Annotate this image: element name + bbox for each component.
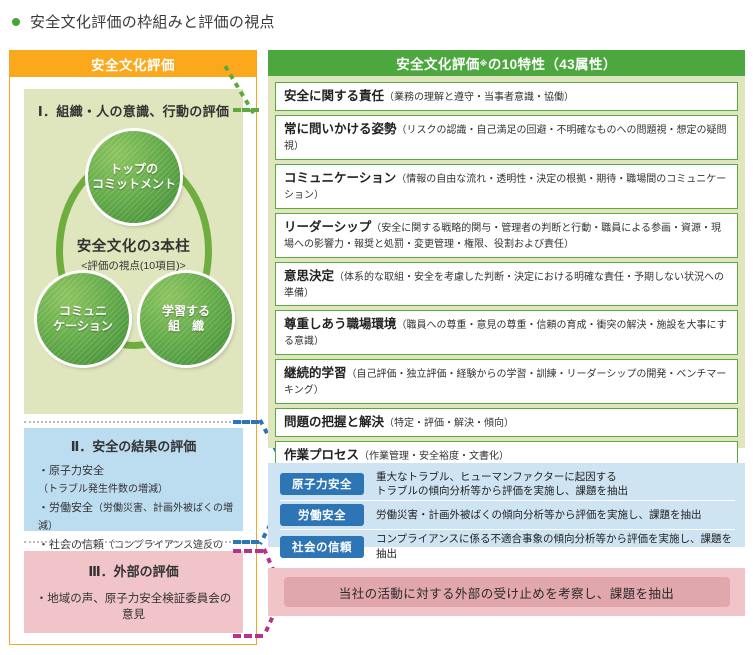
divider-dotted-1	[24, 421, 243, 423]
attribute-row[interactable]: コミュニケーション（情報の自由な流れ・透明性・決定の根拠・期待・職場間のコミュニ…	[275, 164, 738, 209]
section-external-evaluation: Ⅲ．外部の評価 ・地域の声、原子力安全検証委員会の意見	[24, 551, 243, 633]
three-pillars-diagram: トップのコミットメント コミュニケーション 学習する組 織 安全文化の3本柱 <…	[34, 131, 233, 401]
pink-panel-text: 当社の活動に対する外部の受け止めを考察し、課題を抽出	[284, 577, 730, 607]
list-item: ・地域の声、原子力安全検証委員会の意見	[34, 590, 233, 622]
attr-6-detail: （自己評価・独立評価・経験からの学習・訓練・リーダーシップの開発・ベンチマーキン…	[284, 369, 726, 396]
left-panel: 安全文化評価 Ⅰ．組織・人の意識、行動の評価 トップのコミットメント コミュニケ…	[9, 50, 257, 645]
attr-5-name: 尊重しあう職場環境	[284, 317, 397, 331]
pillars-center-sub: <評価の視点(10項目)>	[34, 258, 233, 273]
pillar-right-label: 学習する組 織	[162, 304, 210, 334]
attr-4-detail: （体系的な取組・安全を考慮した判断・決定における明確な責任・予期しない状況への準…	[284, 272, 724, 299]
page-title-text: 安全文化評価の枠組みと評価の視点	[30, 11, 275, 32]
attribute-row[interactable]: 安全に関する責任（業務の理解と遵守・当事者意識・協働）	[275, 82, 738, 111]
section-organization-evaluation: Ⅰ．組織・人の意識、行動の評価 トップのコミットメント コミュニケーション 学習…	[24, 89, 243, 414]
connector-magenta-horizontal-top	[233, 549, 263, 553]
badge-social-trust: 社会の信頼	[280, 536, 364, 558]
attr-6-name: 継続的学習	[284, 366, 347, 380]
green-header-mark: ※	[480, 59, 488, 68]
list-item: ・労働安全（労働災害、計画外被ばくの増減）	[34, 499, 233, 536]
s2-item0-detail: （トラブル発生件数の増減）	[38, 484, 168, 495]
section3-list: ・地域の声、原子力安全検証委員会の意見	[34, 590, 233, 622]
blue-row[interactable]: 社会の信頼 コンプライアンスに係る不適合事象の傾向分析等から評価を実施し、課題を…	[280, 530, 735, 562]
green-panel-header: 安全文化評価※の10特性（43属性）	[268, 50, 745, 76]
pillar-left-label: コミュニケーション	[53, 304, 113, 334]
blue-row[interactable]: 労働安全 労働災害・計画外被ばくの傾向分析等から評価を実施し、課題を抽出	[280, 501, 735, 530]
attr-8-name: 作業プロセス	[284, 448, 359, 462]
safety-culture-attributes-panel: 安全文化評価※の10特性（43属性） 安全に関する責任（業務の理解と遵守・当事者…	[268, 50, 745, 448]
blue-row-0-desc: 重大なトラブル、ヒューマンファクターに起因するトラブルの傾向分析等から評価を実施…	[364, 470, 735, 498]
attr-3-name: リーダーシップ	[284, 220, 371, 234]
page-title: 安全文化評価の枠組みと評価の視点	[12, 11, 275, 32]
attr-1-name: 常に問いかける姿勢	[284, 122, 397, 136]
blue-row-2-desc: コンプライアンスに係る不適合事象の傾向分析等から評価を実施し、課題を抽出	[364, 532, 735, 560]
attribute-row[interactable]: 意思決定（体系的な取組・安全を考慮した判断・決定における明確な責任・予期しない状…	[275, 262, 738, 307]
connector-blue-horizontal-top	[233, 420, 259, 424]
section3-title: Ⅲ．外部の評価	[34, 561, 233, 580]
blue-row-1-desc: 労働災害・計画外被ばくの傾向分析等から評価を実施し、課題を抽出	[364, 508, 735, 522]
external-evaluation-detail-panel: 当社の活動に対する外部の受け止めを考察し、課題を抽出	[268, 568, 745, 616]
pillar-top-label: トップのコミットメント	[92, 162, 176, 192]
blue-row[interactable]: 原子力安全 重大なトラブル、ヒューマンファクターに起因するトラブルの傾向分析等か…	[280, 468, 735, 501]
s2-item0-name: ・原子力安全	[38, 465, 104, 477]
divider-dotted-2	[24, 541, 243, 543]
section2-title: Ⅱ．安全の結果の評価	[34, 436, 233, 455]
pillar-learning-organization: 学習する組 織	[140, 273, 232, 365]
attribute-row[interactable]: 継続的学習（自己評価・独立評価・経験からの学習・訓練・リーダーシップの開発・ベン…	[275, 359, 738, 404]
attr-8-detail: （作業管理・安全裕度・文書化）	[359, 451, 509, 462]
pillars-center-main: 安全文化の3本柱	[34, 235, 233, 256]
attribute-row[interactable]: 尊重しあう職場環境（職員への尊重・意見の尊重・信頼の育成・衝突の解決・施設を大事…	[275, 310, 738, 355]
badge-occupational-safety: 労働安全	[280, 504, 364, 526]
attribute-row[interactable]: リーダーシップ（安全に関する戦略的関与・管理者の判断と行動・職員による参画・資源…	[275, 213, 738, 258]
connector-blue-horizontal-bottom	[233, 540, 259, 544]
attr-7-detail: （特定・評価・解決・傾向）	[384, 418, 514, 429]
list-item: ・原子力安全（トラブル発生件数の増減）	[34, 462, 233, 499]
pillar-communication: コミュニケーション	[37, 273, 129, 365]
section-safety-results-evaluation: Ⅱ．安全の結果の評価 ・原子力安全（トラブル発生件数の増減） ・労働安全（労働災…	[24, 428, 243, 531]
attribute-row[interactable]: 問題の把握と解決（特定・評価・解決・傾向）	[275, 408, 738, 437]
attributes-list: 安全に関する責任（業務の理解と遵守・当事者意識・協働） 常に問いかける姿勢（リス…	[268, 76, 745, 503]
pillars-center-caption: 安全文化の3本柱 <評価の視点(10項目)>	[34, 235, 233, 273]
attr-0-name: 安全に関する責任	[284, 89, 384, 103]
badge-nuclear-safety: 原子力安全	[280, 473, 364, 495]
pillar-top-commitment: トップのコミットメント	[88, 131, 180, 223]
attribute-row[interactable]: 常に問いかける姿勢（リスクの認識・自己満足の回避・不明確なものへの問題視・想定の…	[275, 115, 738, 160]
green-header-post: の10特性（43属性）	[488, 53, 617, 73]
attr-4-name: 意思決定	[284, 269, 334, 283]
s2-item1-name: ・労働安全	[38, 502, 93, 514]
connector-magenta-horizontal-bottom	[233, 634, 263, 638]
attr-7-name: 問題の把握と解決	[284, 415, 384, 429]
left-panel-header: 安全文化評価	[10, 51, 256, 77]
section1-title: Ⅰ．組織・人の意識、行動の評価	[24, 101, 243, 120]
safety-results-detail-panel: 原子力安全 重大なトラブル、ヒューマンファクターに起因するトラブルの傾向分析等か…	[268, 463, 745, 547]
green-header-pre: 安全文化評価	[396, 53, 479, 73]
attr-2-name: コミュニケーション	[284, 171, 396, 185]
attr-0-detail: （業務の理解と遵守・当事者意識・協働）	[384, 92, 574, 103]
bullet-icon	[12, 18, 20, 26]
